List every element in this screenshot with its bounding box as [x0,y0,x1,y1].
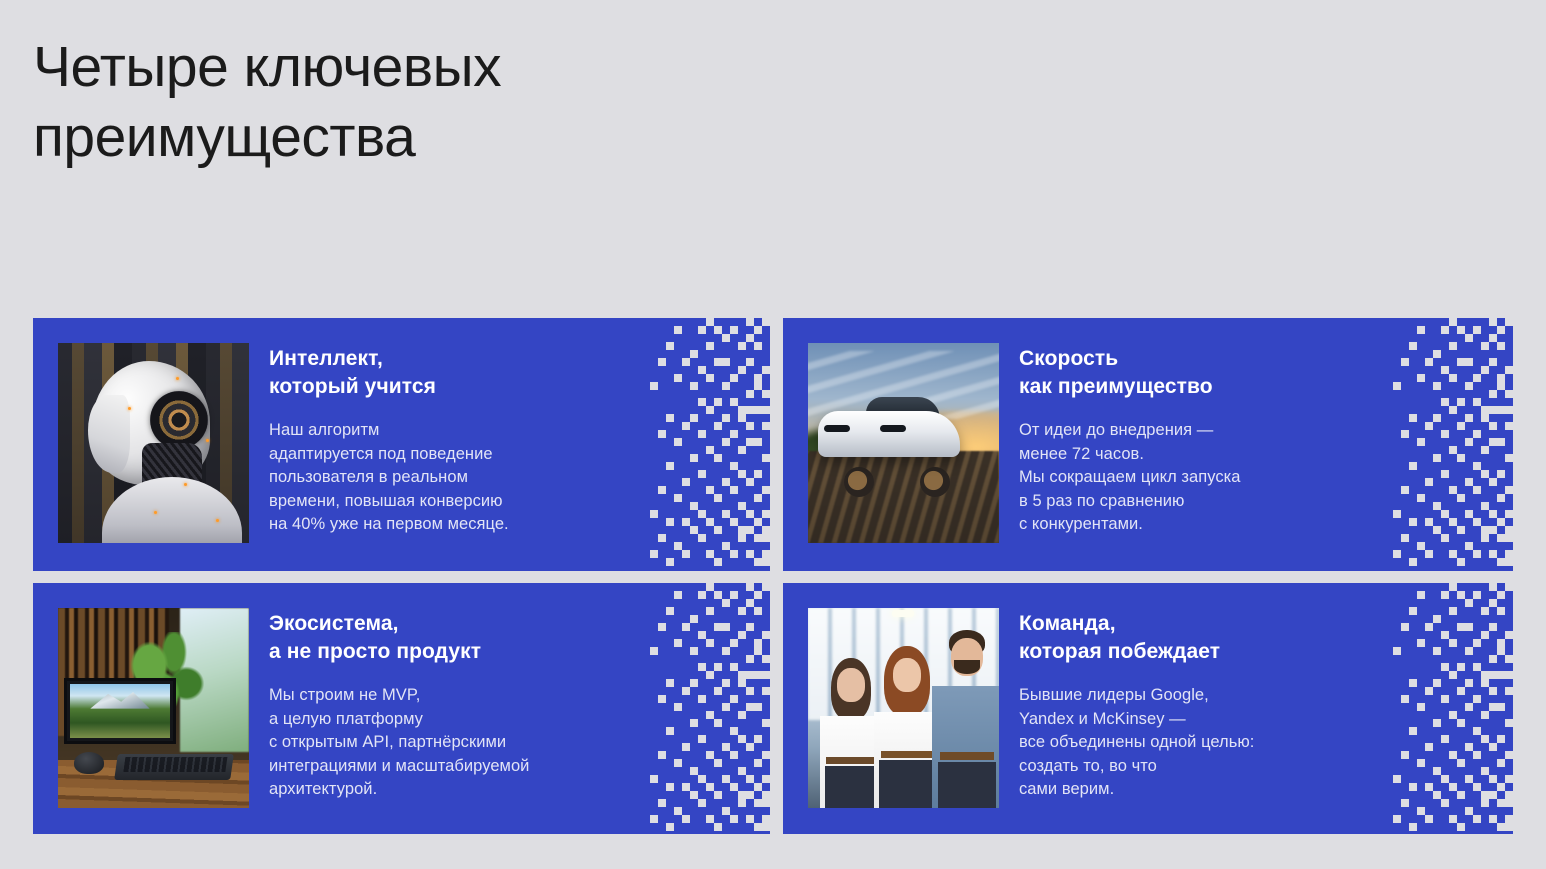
dither-pixel [1425,550,1433,558]
dither-pixel [682,815,690,823]
dither-pixel [762,815,770,823]
dither-pixel [714,823,722,831]
dither-pixel [1505,823,1513,831]
robot-head-photo [58,343,249,543]
benefit-card-ekosistema[interactable]: Экосистема, а не просто продукт Мы строи… [33,583,770,834]
person-figure [820,658,882,808]
business-team-photo [808,608,999,808]
dither-pixel [1393,815,1401,823]
dither-pixel [730,550,738,558]
page-title: Четыре ключевых преимущества [33,32,853,172]
dither-pixel [1473,550,1481,558]
dither-pixel [1497,823,1505,831]
dither-pixel [722,542,730,550]
benefit-card-body: Интеллект, который учится Наш алгоритм а… [249,318,770,537]
benefit-card-body: Экосистема, а не просто продукт Мы строи… [249,583,770,802]
benefits-card-grid: Интеллект, который учится Наш алгоритм а… [33,318,1513,834]
dither-pixel [1465,542,1473,550]
dither-pixel [1489,550,1497,558]
dither-pixel [1425,815,1433,823]
benefit-card-intellekt[interactable]: Интеллект, который учится Наш алгоритм а… [33,318,770,571]
dither-pixel [1473,815,1481,823]
dither-pixel [674,807,682,815]
dither-pixel [714,558,722,566]
dither-pixel [650,550,658,558]
benefit-card-text: Мы строим не MVP, а целую платформу с от… [269,684,770,802]
dither-pixel [674,542,682,550]
benefit-card-title: Интеллект, который учится [269,345,770,401]
dither-pixel [762,550,770,558]
workspace-desk-photo [58,608,249,808]
dither-pixel [682,550,690,558]
benefit-card-komanda[interactable]: Команда, которая побеждает Бывшие лидеры… [783,583,1513,834]
dither-pixel [1449,815,1457,823]
dither-pixel [1393,550,1401,558]
dither-pixel [754,823,762,831]
benefit-card-text: Бывшие лидеры Google, Yandex и McKinsey … [1019,684,1513,802]
dither-pixel [762,558,770,566]
slide-root: Четыре ключевых преимущества [0,0,1546,869]
sports-car-photo [808,343,999,543]
dither-pixel [1505,558,1513,566]
benefit-card-title: Команда, которая побеждает [1019,610,1513,666]
dither-pixel [730,815,738,823]
benefit-card-body: Команда, которая побеждает Бывшие лидеры… [999,583,1513,802]
dither-pixel [1457,823,1465,831]
dither-pixel [1417,807,1425,815]
person-figure [874,646,940,808]
dither-pixel [666,558,674,566]
dither-pixel [1409,558,1417,566]
benefit-card-text: От идеи до внедрения — менее 72 часов. М… [1019,419,1513,537]
dither-pixel [754,558,762,566]
dither-pixel [1449,550,1457,558]
benefit-card-title: Скорость как преимущество [1019,345,1513,401]
dither-pixel [650,815,658,823]
dither-pixel [1489,815,1497,823]
benefit-card-title: Экосистема, а не просто продукт [269,610,770,666]
benefit-card-skorost[interactable]: Скорость как преимущество От идеи до вне… [783,318,1513,571]
benefit-card-text: Наш алгоритм адаптируется под поведение … [269,419,770,537]
dither-pixel [1505,815,1513,823]
benefit-card-body: Скорость как преимущество От идеи до вне… [999,318,1513,537]
dither-pixel [746,550,754,558]
dither-pixel [722,807,730,815]
dither-pixel [666,823,674,831]
dither-pixel [706,815,714,823]
dither-pixel [1457,558,1465,566]
dither-pixel [1465,807,1473,815]
dither-pixel [1417,542,1425,550]
dither-pixel [706,550,714,558]
dither-pixel [762,823,770,831]
dither-pixel [1505,550,1513,558]
person-figure [932,630,999,808]
dither-pixel [746,815,754,823]
dither-pixel [1497,558,1505,566]
dither-pixel [1409,823,1417,831]
